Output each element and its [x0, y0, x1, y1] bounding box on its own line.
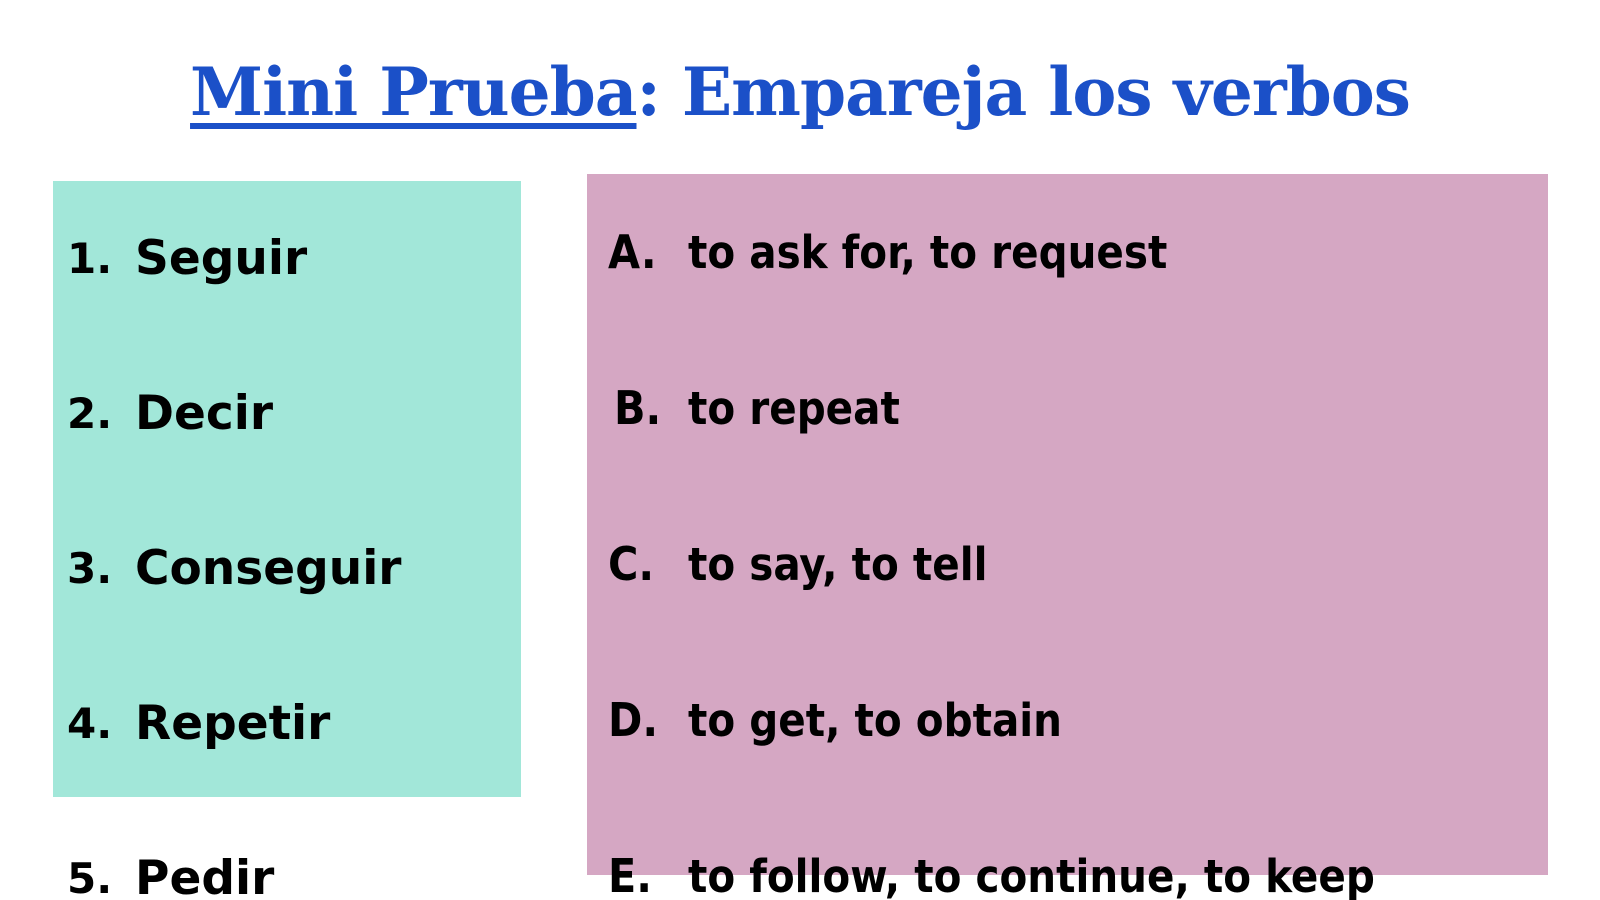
- spanish-verb-list: 1. Seguir 2. Decir 3. Conseguir 4. Repet…: [53, 181, 573, 900]
- page-title: Mini Prueba: Empareja los verbos: [0, 52, 1600, 132]
- page-title-rest: Empareja los verbos: [682, 53, 1410, 131]
- list-item-marker: 1.: [53, 234, 135, 283]
- list-item-marker: B.: [600, 381, 688, 435]
- list-item-label: to ask for, to request: [688, 226, 1167, 279]
- list-item[interactable]: D. to get, to obtain: [600, 642, 1600, 798]
- list-item-label: Seguir: [135, 231, 307, 286]
- list-item-marker: 3.: [53, 544, 135, 593]
- list-item[interactable]: E. to follow, to continue, to keep: [600, 798, 1600, 900]
- page-title-emphasis: Mini Prueba: [190, 53, 636, 131]
- list-item-label: to follow, to continue, to keep: [688, 850, 1375, 900]
- list-item[interactable]: 1. Seguir: [53, 181, 573, 336]
- list-item-label: to repeat: [688, 382, 900, 435]
- slide-canvas: Mini Prueba: Empareja los verbos 1. Segu…: [0, 0, 1600, 900]
- list-item[interactable]: 4. Repetir: [53, 646, 573, 801]
- list-item[interactable]: 2. Decir: [53, 336, 573, 491]
- list-item-marker: 5.: [53, 854, 135, 900]
- list-item-label: Conseguir: [135, 541, 402, 596]
- list-item-label: to say, to tell: [688, 538, 987, 591]
- list-item-marker: E.: [600, 849, 688, 900]
- page-title-separator: :: [637, 53, 682, 131]
- list-item-marker: C.: [600, 537, 688, 591]
- list-item[interactable]: A. to ask for, to request: [600, 174, 1600, 330]
- list-item-label: to get, to obtain: [688, 694, 1062, 747]
- english-meaning-list: A. to ask for, to request B. to repeat C…: [600, 174, 1600, 900]
- list-item-label: Decir: [135, 386, 273, 441]
- list-item[interactable]: 5. Pedir: [53, 801, 573, 900]
- list-item-marker: A.: [600, 225, 688, 279]
- list-item-marker: 2.: [53, 389, 135, 438]
- list-item[interactable]: B. to repeat: [600, 330, 1600, 486]
- list-item-marker: 4.: [53, 699, 135, 748]
- list-item-label: Pedir: [135, 851, 274, 900]
- list-item[interactable]: C. to say, to tell: [600, 486, 1600, 642]
- list-item-label: Repetir: [135, 696, 330, 751]
- list-item-marker: D.: [600, 693, 688, 747]
- list-item[interactable]: 3. Conseguir: [53, 491, 573, 646]
